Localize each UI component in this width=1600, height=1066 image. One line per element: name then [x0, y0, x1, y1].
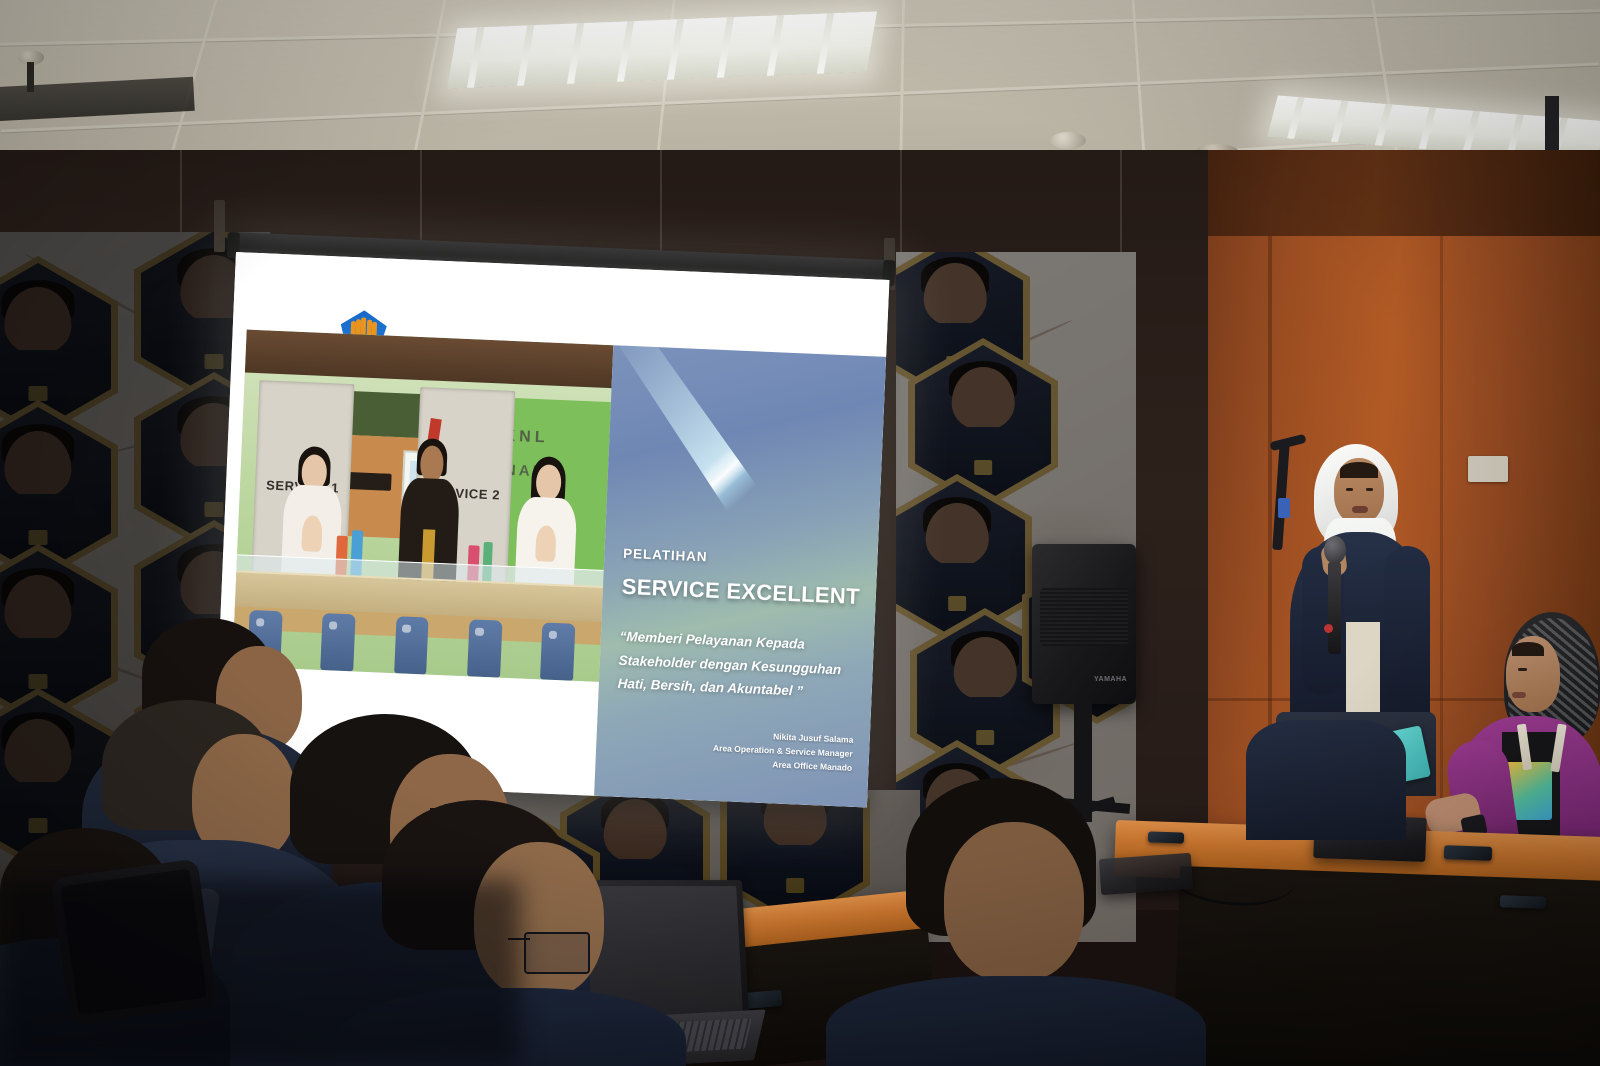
eyeglasses-member-4 — [524, 932, 590, 974]
screen-bracket-left — [214, 200, 225, 252]
phone-presenter-table-right — [1500, 895, 1546, 909]
ceiling-speaker-icon — [1050, 132, 1086, 149]
slide-eyebrow: PELATIHAN — [623, 546, 708, 565]
wall-switch-plate — [1468, 456, 1508, 482]
audience-member-7 — [1246, 720, 1406, 840]
chair-back — [50, 858, 217, 1025]
remote-control — [1444, 845, 1492, 861]
slide-title: SERVICE EXCELLENT — [621, 573, 860, 609]
screenshot-root: KPKNL MANADO BSI BANK SYARIAH INDONESIA — [0, 0, 1600, 1066]
microphone-stand — [1272, 442, 1290, 550]
slide-credit: Nikita Jusuf Salama Area Operation & Ser… — [712, 727, 854, 775]
speaker-brand-label: YAMAHA — [1094, 676, 1127, 683]
audience-member-4 — [356, 800, 656, 1066]
audience-member-5 — [866, 778, 1156, 1066]
right-wall-upper-panel — [1208, 150, 1600, 236]
slide-text-panel: PELATIHAN SERVICE EXCELLENT “Memberi Pel… — [594, 345, 886, 808]
slide-quote: “Memberi Pelayanan Kepada Stakeholder de… — [617, 625, 852, 705]
microphone — [1328, 562, 1341, 654]
